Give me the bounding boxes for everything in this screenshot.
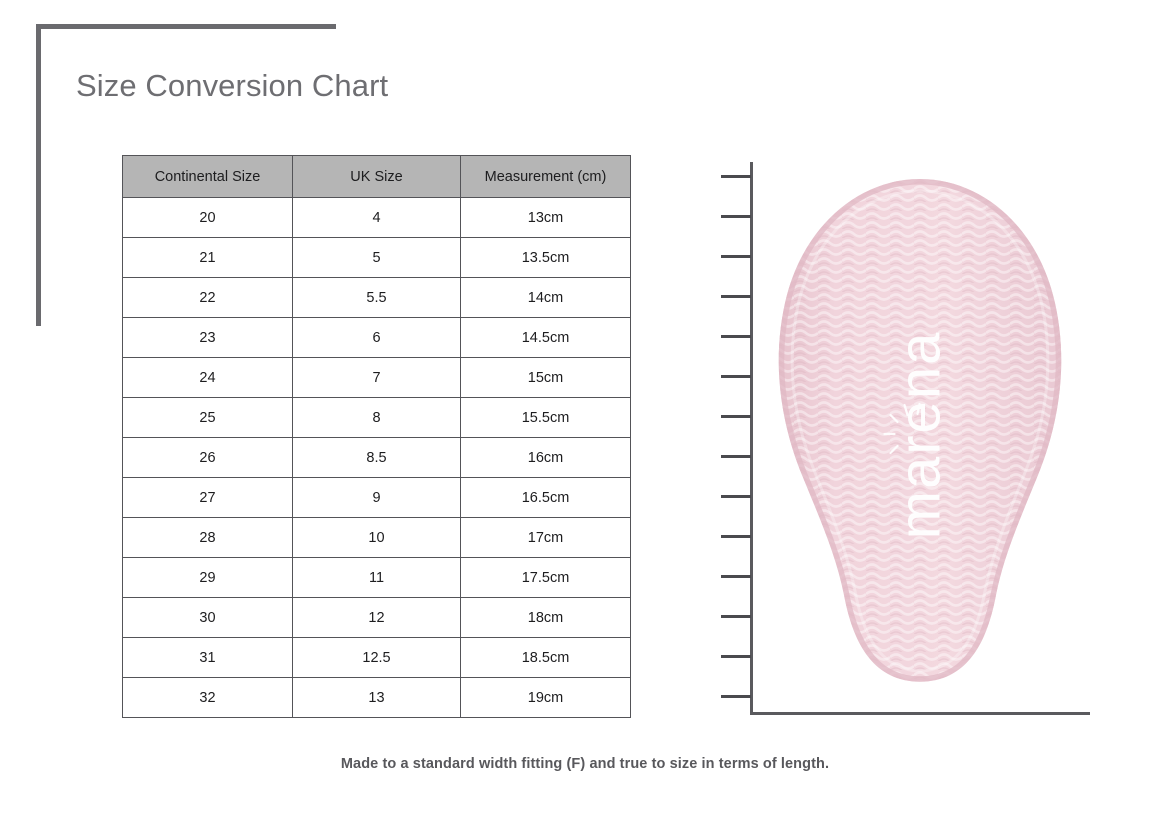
cell-measurement: 17.5cm <box>461 558 631 598</box>
ruler-tick <box>721 495 751 498</box>
ruler-tick <box>721 535 751 538</box>
ruler-tick <box>721 575 751 578</box>
cell-uk-size: 9 <box>293 478 461 518</box>
table-row: 21513.5cm <box>123 238 631 278</box>
cell-measurement: 17cm <box>461 518 631 558</box>
cell-uk-size: 12.5 <box>293 638 461 678</box>
cell-continental-size: 24 <box>123 358 293 398</box>
ruler-tick <box>721 455 751 458</box>
column-header-uk-size: UK Size <box>293 156 461 198</box>
cell-uk-size: 4 <box>293 198 461 238</box>
cell-continental-size: 23 <box>123 318 293 358</box>
table-row: 281017cm <box>123 518 631 558</box>
cell-uk-size: 5 <box>293 238 461 278</box>
table-row: 301218cm <box>123 598 631 638</box>
table-row: 25815.5cm <box>123 398 631 438</box>
cell-uk-size: 7 <box>293 358 461 398</box>
cell-uk-size: 6 <box>293 318 461 358</box>
cell-measurement: 15.5cm <box>461 398 631 438</box>
ruler-tick <box>721 615 751 618</box>
page-title: Size Conversion Chart <box>76 68 388 104</box>
ruler-tick <box>721 375 751 378</box>
cell-measurement: 13cm <box>461 198 631 238</box>
cell-uk-size: 13 <box>293 678 461 718</box>
cell-uk-size: 8 <box>293 398 461 438</box>
cell-measurement: 19cm <box>461 678 631 718</box>
cell-continental-size: 27 <box>123 478 293 518</box>
cell-uk-size: 10 <box>293 518 461 558</box>
cell-measurement: 14.5cm <box>461 318 631 358</box>
table-row: 3112.518.5cm <box>123 638 631 678</box>
table-row: 24715cm <box>123 358 631 398</box>
table-header-row: Continental Size UK Size Measurement (cm… <box>123 156 631 198</box>
cell-continental-size: 25 <box>123 398 293 438</box>
ruler-tick <box>721 215 751 218</box>
cell-measurement: 16.5cm <box>461 478 631 518</box>
ruler-baseline <box>750 712 1090 715</box>
table-row: 27916.5cm <box>123 478 631 518</box>
table-row: 291117.5cm <box>123 558 631 598</box>
cell-uk-size: 5.5 <box>293 278 461 318</box>
ruler-tick <box>721 655 751 658</box>
shoe-sole-illustration: marena <box>770 175 1070 695</box>
table-row: 225.514cm <box>123 278 631 318</box>
ruler-tick <box>721 415 751 418</box>
ruler-tick <box>721 695 751 698</box>
table-row: 321319cm <box>123 678 631 718</box>
footer-note: Made to a standard width fitting (F) and… <box>0 756 1170 772</box>
cell-continental-size: 26 <box>123 438 293 478</box>
cell-uk-size: 11 <box>293 558 461 598</box>
cell-continental-size: 30 <box>123 598 293 638</box>
ruler-tick <box>721 175 751 178</box>
sole-body <box>770 175 1070 695</box>
cell-measurement: 16cm <box>461 438 631 478</box>
cell-continental-size: 28 <box>123 518 293 558</box>
ruler-spine <box>750 162 753 715</box>
cell-measurement: 18.5cm <box>461 638 631 678</box>
cell-measurement: 14cm <box>461 278 631 318</box>
cell-measurement: 15cm <box>461 358 631 398</box>
cell-continental-size: 20 <box>123 198 293 238</box>
ruler-tick <box>721 255 751 258</box>
cell-measurement: 13.5cm <box>461 238 631 278</box>
size-conversion-table: Continental Size UK Size Measurement (cm… <box>122 155 631 718</box>
cell-uk-size: 8.5 <box>293 438 461 478</box>
ruler-tick <box>721 295 751 298</box>
cell-measurement: 18cm <box>461 598 631 638</box>
cell-continental-size: 22 <box>123 278 293 318</box>
table-row: 23614.5cm <box>123 318 631 358</box>
table-row: 20413cm <box>123 198 631 238</box>
corner-bracket-vertical <box>36 24 41 326</box>
cell-continental-size: 32 <box>123 678 293 718</box>
cell-continental-size: 29 <box>123 558 293 598</box>
column-header-continental-size: Continental Size <box>123 156 293 198</box>
table-row: 268.516cm <box>123 438 631 478</box>
column-header-measurement: Measurement (cm) <box>461 156 631 198</box>
corner-bracket-horizontal <box>36 24 336 29</box>
shoe-sole-graphic <box>770 175 1070 695</box>
cell-uk-size: 12 <box>293 598 461 638</box>
cell-continental-size: 21 <box>123 238 293 278</box>
ruler-tick <box>721 335 751 338</box>
cell-continental-size: 31 <box>123 638 293 678</box>
table-body: 20413cm21513.5cm225.514cm23614.5cm24715c… <box>123 198 631 718</box>
